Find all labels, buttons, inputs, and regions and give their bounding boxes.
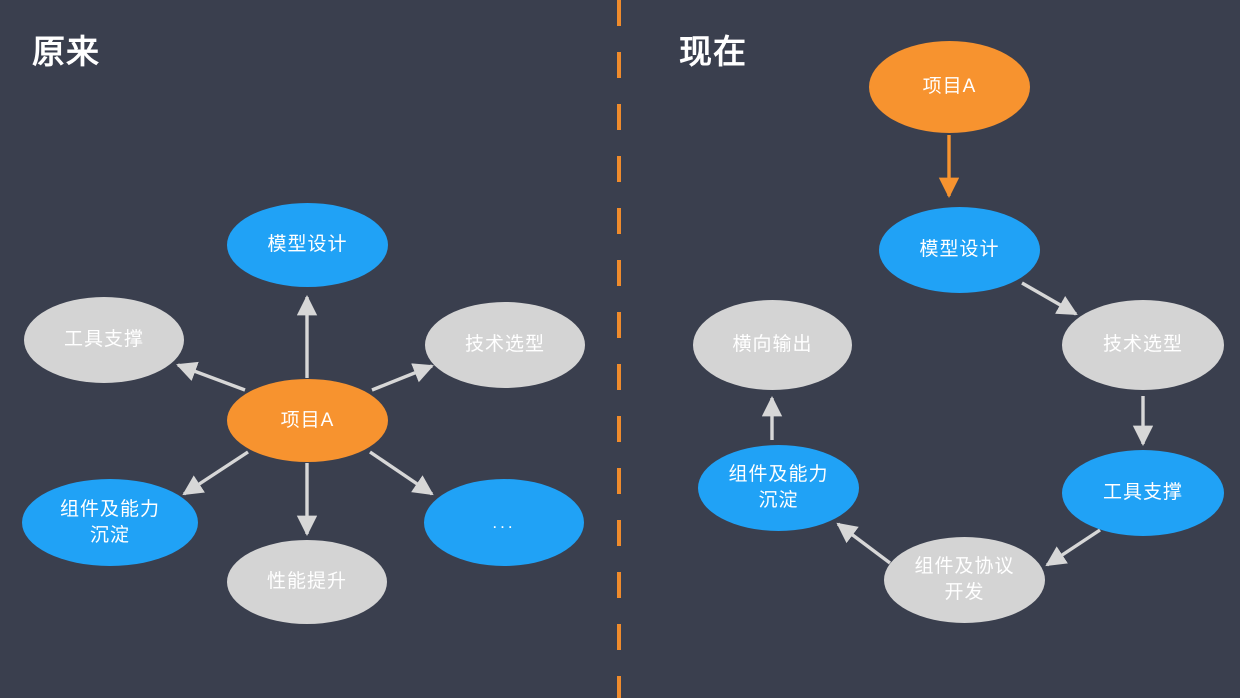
node-label: 技术选型 — [1103, 332, 1183, 358]
node-label: 模型设计 — [919, 237, 999, 263]
node-tool-support-right[interactable]: 工具支撑 — [1062, 450, 1224, 536]
node-component-capability-left[interactable]: 组件及能力 沉淀 — [22, 479, 198, 566]
node-performance-left[interactable]: 性能提升 — [227, 540, 387, 624]
node-horizontal-output-right[interactable]: 横向输出 — [693, 300, 852, 390]
arrow-project-to-component — [184, 452, 248, 494]
node-label: ... — [492, 510, 515, 536]
node-model-design-left[interactable]: 模型设计 — [227, 203, 388, 287]
node-component-capability-right[interactable]: 组件及能力 沉淀 — [698, 445, 859, 531]
node-project-a-right[interactable]: 项目A — [869, 41, 1030, 133]
node-label: 工具支撑 — [64, 327, 144, 353]
node-protocol-development-right[interactable]: 组件及协议 开发 — [884, 537, 1045, 623]
node-label: 组件及协议 开发 — [914, 554, 1014, 606]
left-panel-title: 原来 — [32, 32, 100, 72]
node-tech-selection-left[interactable]: 技术选型 — [425, 302, 585, 388]
right-panel-title: 现在 — [679, 32, 747, 72]
arrow-tool-to-protocol — [1047, 530, 1100, 565]
node-tool-support-left[interactable]: 工具支撑 — [24, 297, 184, 383]
node-project-a-left[interactable]: 项目A — [227, 379, 388, 462]
diagram-canvas: 原来 现在 — [0, 0, 1240, 698]
arrow-project-to-tool — [178, 365, 245, 390]
node-label: 项目A — [281, 408, 335, 434]
node-label: 性能提升 — [267, 569, 347, 595]
node-label: 技术选型 — [465, 332, 545, 358]
node-model-design-right[interactable]: 模型设计 — [879, 207, 1040, 293]
node-label: 横向输出 — [732, 332, 812, 358]
node-label: 组件及能力 沉淀 — [60, 497, 160, 549]
panel-divider — [617, 0, 621, 698]
node-label: 工具支撑 — [1103, 480, 1183, 506]
node-more-left[interactable]: ... — [424, 479, 584, 566]
arrow-project-to-tech — [372, 366, 432, 390]
arrow-model-to-tech — [1022, 283, 1076, 314]
arrow-protocol-to-component — [838, 524, 890, 563]
node-label: 组件及能力 沉淀 — [728, 462, 828, 514]
node-label: 项目A — [923, 74, 977, 100]
node-label: 模型设计 — [267, 232, 347, 258]
node-tech-selection-right[interactable]: 技术选型 — [1062, 300, 1224, 390]
arrow-project-to-more — [370, 452, 432, 494]
